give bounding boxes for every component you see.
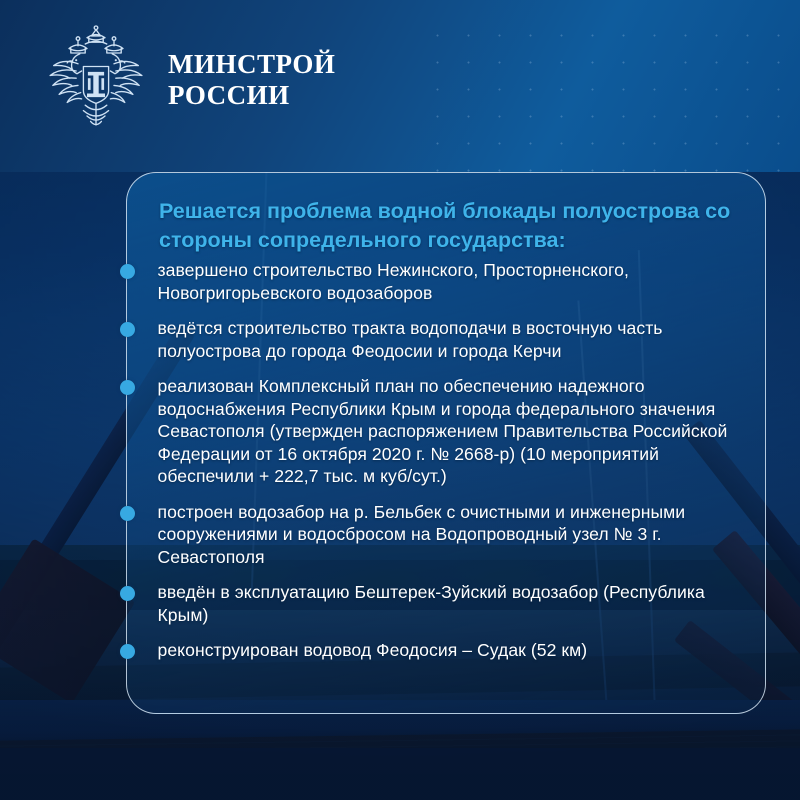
list-item-text: завершено строительство Нежинского, Прос… [158, 259, 752, 304]
header: МИНСТРОЙ РОССИИ [0, 0, 800, 172]
list-item-text: реконструирован водовод Феодосия – Судак… [158, 639, 588, 662]
bullet-dot-icon [120, 322, 135, 337]
list-item: ведётся строительство тракта водоподачи … [127, 317, 751, 362]
list-item-text: реализован Комплексный план по обеспечен… [158, 375, 752, 488]
bullet-dot-icon [120, 380, 135, 395]
list-item: построен водозабор на р. Бельбек с очист… [127, 501, 751, 569]
bullet-dot-icon [120, 506, 135, 521]
infographic-slide: МИНСТРОЙ РОССИИ Решается проблема водной… [0, 0, 800, 800]
list-item: введён в эксплуатацию Бештерек-Зуйский в… [127, 581, 751, 626]
list-item: реконструирован водовод Феодосия – Судак… [127, 639, 751, 662]
bullet-dot-icon [120, 644, 135, 659]
brand-line-2: РОССИИ [168, 80, 335, 111]
bullet-list: завершено строительство Нежинского, Прос… [127, 259, 751, 675]
list-item: завершено строительство Нежинского, Прос… [127, 259, 751, 304]
list-item: реализован Комплексный план по обеспечен… [127, 375, 751, 488]
dot-grid-pattern [422, 22, 782, 172]
content-card: Решается проблема водной блокады полуост… [126, 172, 766, 714]
card-title: Решается проблема водной блокады полуост… [159, 197, 747, 255]
bullet-dot-icon [120, 586, 135, 601]
header-branding: МИНСТРОЙ РОССИИ [42, 24, 335, 136]
list-item-text: введён в эксплуатацию Бештерек-Зуйский в… [158, 581, 752, 626]
list-item-text: построен водозабор на р. Бельбек с очист… [158, 501, 752, 569]
russian-double-headed-eagle-emblem-icon [42, 24, 150, 136]
brand-line-1: МИНСТРОЙ [168, 49, 335, 80]
bullet-dot-icon [120, 264, 135, 279]
list-item-text: ведётся строительство тракта водоподачи … [158, 317, 752, 362]
brand-name: МИНСТРОЙ РОССИИ [168, 49, 335, 111]
